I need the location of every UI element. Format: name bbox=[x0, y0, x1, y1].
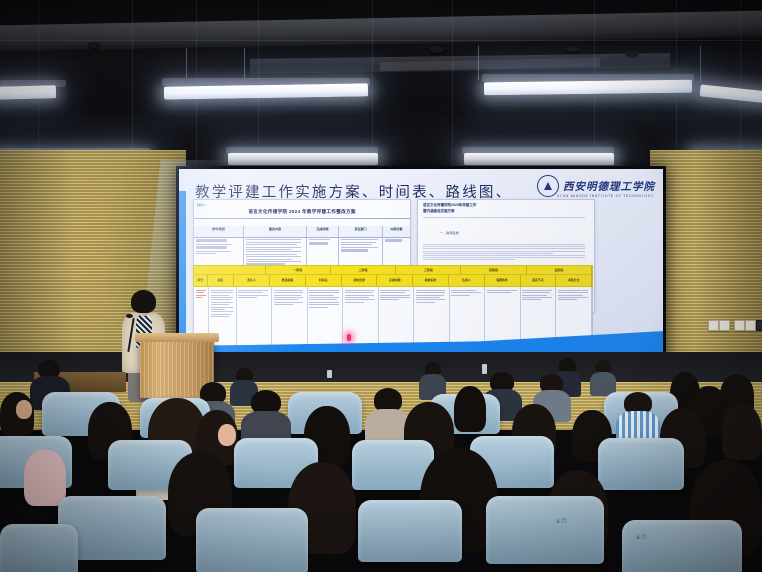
auditorium-seat: 西 bbox=[622, 520, 742, 572]
water-bottle bbox=[482, 364, 487, 374]
auditorium-seat bbox=[598, 438, 684, 490]
schedule-sub-b: 项目 bbox=[208, 275, 235, 286]
left-doc-heading: 语言文化传播学院 2024 年教学评建工作整改方案 bbox=[194, 206, 410, 219]
schedule-group-3: 四阶段 bbox=[461, 266, 526, 274]
laser-pointer-dot bbox=[347, 334, 351, 341]
left-doc-col-4: 内审分数 bbox=[383, 226, 410, 237]
university-seal-icon bbox=[537, 175, 559, 197]
schedule-sub-a: 序号 bbox=[194, 275, 208, 286]
university-wordmark: 西安明德理工学院 bbox=[563, 179, 655, 194]
auditorium-seat bbox=[196, 508, 308, 572]
schedule-sub-8: 落实节点 bbox=[521, 275, 557, 286]
schedule-sub-2: 时间点 bbox=[306, 275, 342, 286]
water-bottle bbox=[327, 370, 332, 378]
right-doc-heading: 语言文化传播学院2025年评建工作 bbox=[418, 200, 594, 209]
ceiling-speaker-icon bbox=[88, 42, 100, 48]
schedule-sub-6: 负责人 bbox=[449, 275, 485, 286]
ceiling-light-6 bbox=[228, 153, 378, 165]
seat-crest-icon: 西 bbox=[556, 516, 572, 524]
university-english-sub: XI'AN MINGDE INSTITUTE OF TECHNOLOGY bbox=[557, 194, 654, 198]
ceiling bbox=[0, 0, 762, 168]
right-doc-section: 一、指导思想 bbox=[440, 230, 459, 235]
auditorium-photo: 教学评建工作实施方案、时间表、路线图、 西安明德理工学院 XI'AN MINGD… bbox=[0, 0, 762, 572]
ceiling-light-1 bbox=[0, 85, 56, 100]
schedule-group-2: 三阶段 bbox=[396, 266, 461, 274]
schedule-group-4: 五阶段 bbox=[527, 266, 592, 274]
auditorium-seat bbox=[0, 524, 78, 572]
ceiling-light-2 bbox=[164, 83, 368, 99]
schedule-sub-0: 责任人 bbox=[234, 275, 270, 286]
ceiling-light-4 bbox=[700, 84, 762, 103]
slide-schedule-table: 一阶段 二阶段 三阶段 四阶段 五阶段 序号 项目 责任人 推进措施 时间点 具… bbox=[193, 265, 593, 346]
ceiling-light-7 bbox=[464, 153, 614, 165]
projection-screen: 教学评建工作实施方案、时间表、路线图、 西安明德理工学院 XI'AN MINGD… bbox=[176, 166, 666, 362]
light-switch-5[interactable] bbox=[756, 320, 762, 331]
left-doc-col-1: 整改内容 bbox=[244, 226, 307, 237]
slide-surface: 教学评建工作实施方案、时间表、路线图、 西安明德理工学院 XI'AN MINGD… bbox=[179, 169, 663, 359]
light-switch-1[interactable] bbox=[708, 320, 719, 331]
schedule-sub-9: 考核方式 bbox=[556, 275, 592, 286]
right-doc-heading2: 暨内涵建设实施方案 bbox=[418, 209, 594, 215]
left-doc-col-0: 序号/类别 bbox=[194, 226, 244, 237]
schedule-group-1: 二阶段 bbox=[331, 266, 396, 274]
schedule-group-header-row: 一阶段 二阶段 三阶段 四阶段 五阶段 bbox=[193, 265, 593, 275]
auditorium-seat bbox=[358, 500, 462, 562]
schedule-sub-5: 验收标准 bbox=[413, 275, 449, 286]
schedule-sub-4: 完成时限 bbox=[377, 275, 413, 286]
light-switch-3[interactable] bbox=[734, 320, 745, 331]
podium-top-surface bbox=[135, 333, 219, 342]
schedule-sub-3: 具体安排 bbox=[342, 275, 378, 286]
left-doc-col-2: 完成时限 bbox=[307, 226, 339, 237]
left-doc-col-3: 责任部门 bbox=[339, 226, 383, 237]
light-switch-4[interactable] bbox=[745, 320, 756, 331]
ceiling-light-3 bbox=[484, 80, 692, 96]
left-doc-tag: 附件 1 bbox=[197, 202, 206, 207]
presenter-hair bbox=[131, 290, 156, 313]
schedule-group-0: 一阶段 bbox=[266, 266, 331, 274]
light-switch-2[interactable] bbox=[719, 320, 730, 331]
schedule-body-row bbox=[193, 287, 593, 346]
seat-crest-icon: 西 bbox=[636, 532, 652, 540]
schedule-sub-1: 推进措施 bbox=[270, 275, 306, 286]
auditorium-seat: 西 bbox=[486, 496, 604, 564]
ceiling-soffit bbox=[0, 11, 762, 52]
schedule-sub-7: 保障条件 bbox=[485, 275, 521, 286]
schedule-sub-header-row: 序号 项目 责任人 推进措施 时间点 具体安排 完成时限 验收标准 负责人 保障… bbox=[193, 275, 593, 287]
